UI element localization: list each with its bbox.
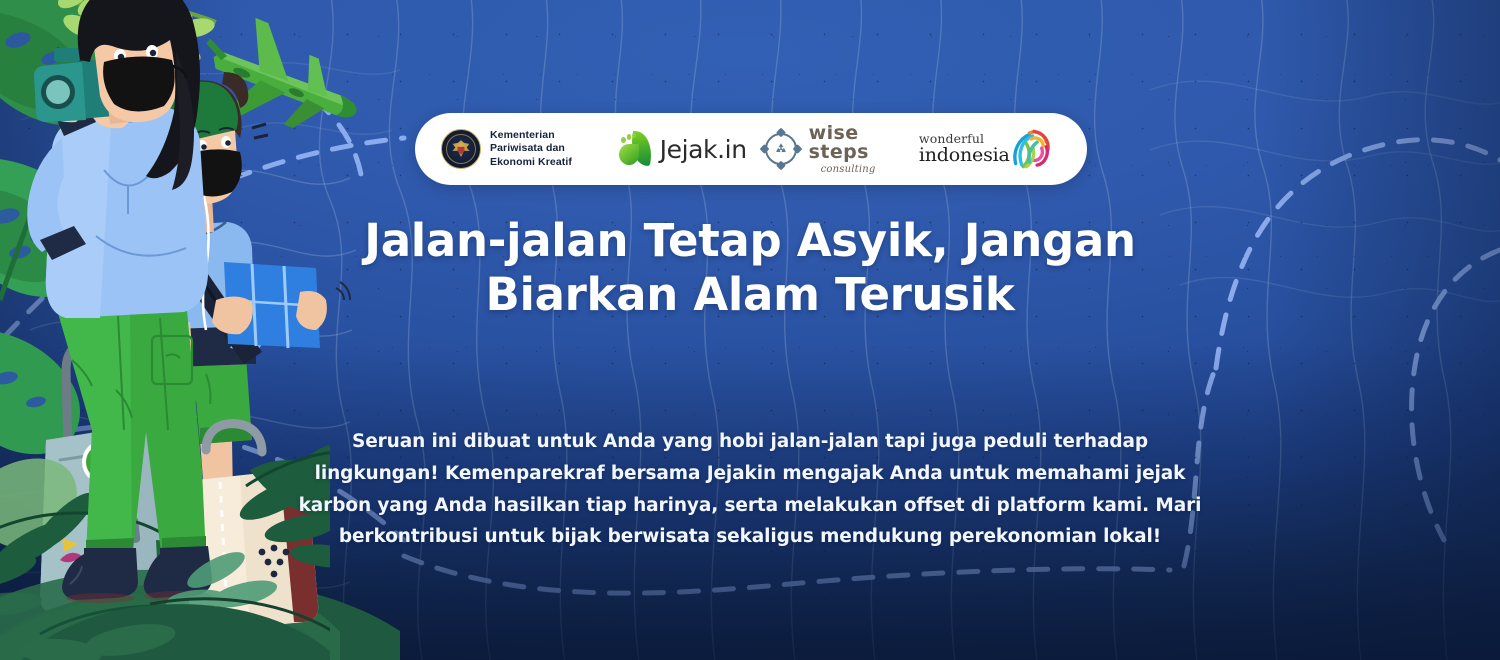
wonderful-indonesia-swirl-icon — [1008, 128, 1054, 170]
wonderful-indonesia-line-2: indonesia — [919, 146, 1010, 165]
jejakin-wordmark: Jejak.in — [660, 135, 747, 164]
wise-steps-tagline: consulting — [821, 165, 919, 175]
wonderful-indonesia-wordmark: wonderful indonesia — [919, 133, 1010, 166]
kemenparekraf-line-3: Ekonomi Kreatif — [490, 156, 572, 169]
kemenparekraf-wordmark: Kementerian Pariwisata dan Ekonomi Kreat… — [490, 129, 572, 169]
logo-jejakin[interactable]: Jejak.in — [610, 132, 762, 166]
background-vignette — [0, 0, 1500, 660]
kemenparekraf-line-1: Kementerian — [490, 129, 572, 142]
hero-body-text: Seruan ini dibuat untuk Anda yang hobi j… — [0, 426, 1500, 553]
wise-steps-title: wise steps — [809, 124, 919, 162]
garuda-emblem-icon — [441, 129, 481, 169]
wise-steps-wordmark: wise steps consulting — [809, 124, 919, 175]
leaf-footprint-icon — [618, 132, 654, 166]
kemenparekraf-line-2: Pariwisata dan — [490, 142, 572, 155]
campaign-banner: Kementerian Pariwisata dan Ekonomi Kreat… — [0, 0, 1500, 660]
hero-headline: Jalan-jalan Tetap Asyik, Jangan Biarkan … — [0, 214, 1500, 322]
logo-wise-steps-consulting[interactable]: wise steps consulting — [762, 124, 919, 175]
logo-kemenparekraf[interactable]: Kementerian Pariwisata dan Ekonomi Kreat… — [441, 129, 610, 169]
recycle-compass-icon — [762, 130, 800, 168]
partner-logo-bar: Kementerian Pariwisata dan Ekonomi Kreat… — [415, 113, 1087, 185]
logo-wonderful-indonesia[interactable]: wonderful indonesia — [919, 128, 1061, 170]
